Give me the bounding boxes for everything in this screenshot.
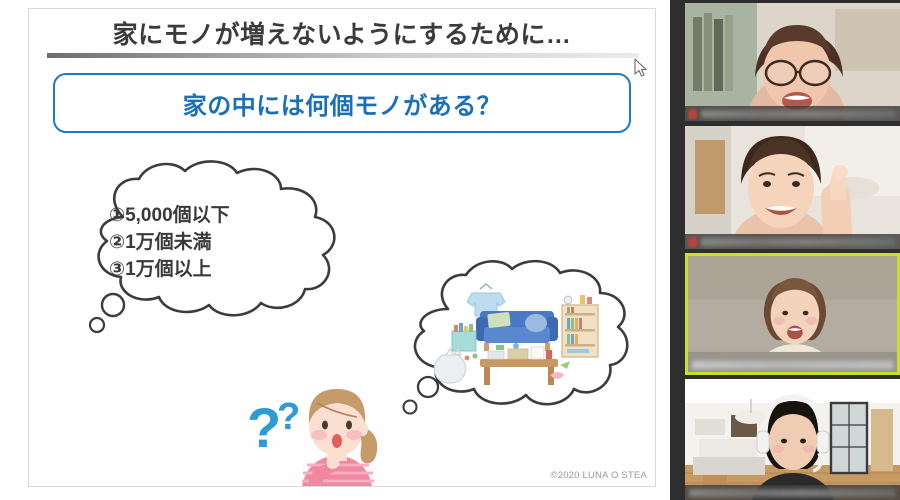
presentation-slide: 家にモノが増えないようにするために… 家の中には何個モノがある？ ①5,000個… (28, 8, 656, 487)
room-bubble-shape (384, 257, 634, 432)
question-box-text: 家の中には何個モノがある？ (183, 86, 502, 121)
copyright-text: ©2020 LUNA O STEA (551, 470, 647, 481)
option-3: ③1万個以上 (109, 257, 339, 284)
question-box: 家の中には何個モノがある？ (53, 73, 631, 133)
participant-name-bar-4 (685, 485, 900, 500)
participant-tile-1[interactable] (685, 3, 900, 121)
participant-name-bar-2 (685, 234, 900, 249)
mic-muted-icon (688, 109, 697, 119)
participant-name-1 (701, 110, 896, 118)
title-divider (47, 53, 639, 58)
slide-title: 家にモノが増えないようにするために… (29, 15, 655, 51)
participant-video-3 (688, 256, 897, 372)
thinking-woman-illustration (257, 381, 417, 487)
mouse-cursor (634, 58, 648, 78)
participant-tile-3[interactable] (685, 253, 900, 375)
participant-video-2 (685, 126, 900, 249)
room-thought-bubble (384, 257, 634, 432)
screen-share-area: 家にモノが増えないようにするために… 家の中には何個モノがある？ ①5,000個… (0, 0, 670, 500)
participant-name-bar-1 (685, 106, 900, 121)
participant-name-4 (689, 489, 896, 497)
participant-video-1 (685, 3, 900, 121)
participant-rail (670, 0, 900, 500)
option-2: ②1万個未満 (109, 230, 339, 257)
participant-tile-4[interactable] (685, 379, 900, 500)
option-1: ①5,000個以下 (109, 203, 339, 230)
options-thought-bubble: ①5,000個以下 ②1万個未満 ③1万個以上 (65, 159, 355, 339)
participant-name-bar-3 (688, 357, 897, 372)
participant-tile-2[interactable] (685, 126, 900, 249)
participant-name-3 (692, 361, 893, 369)
participant-video-4 (685, 379, 900, 500)
mic-muted-icon (688, 237, 697, 247)
options-list: ①5,000個以下 ②1万個未満 ③1万個以上 (109, 203, 339, 284)
video-conference-window: 家にモノが増えないようにするために… 家の中には何個モノがある？ ①5,000個… (0, 0, 900, 500)
participant-name-2 (701, 238, 896, 246)
